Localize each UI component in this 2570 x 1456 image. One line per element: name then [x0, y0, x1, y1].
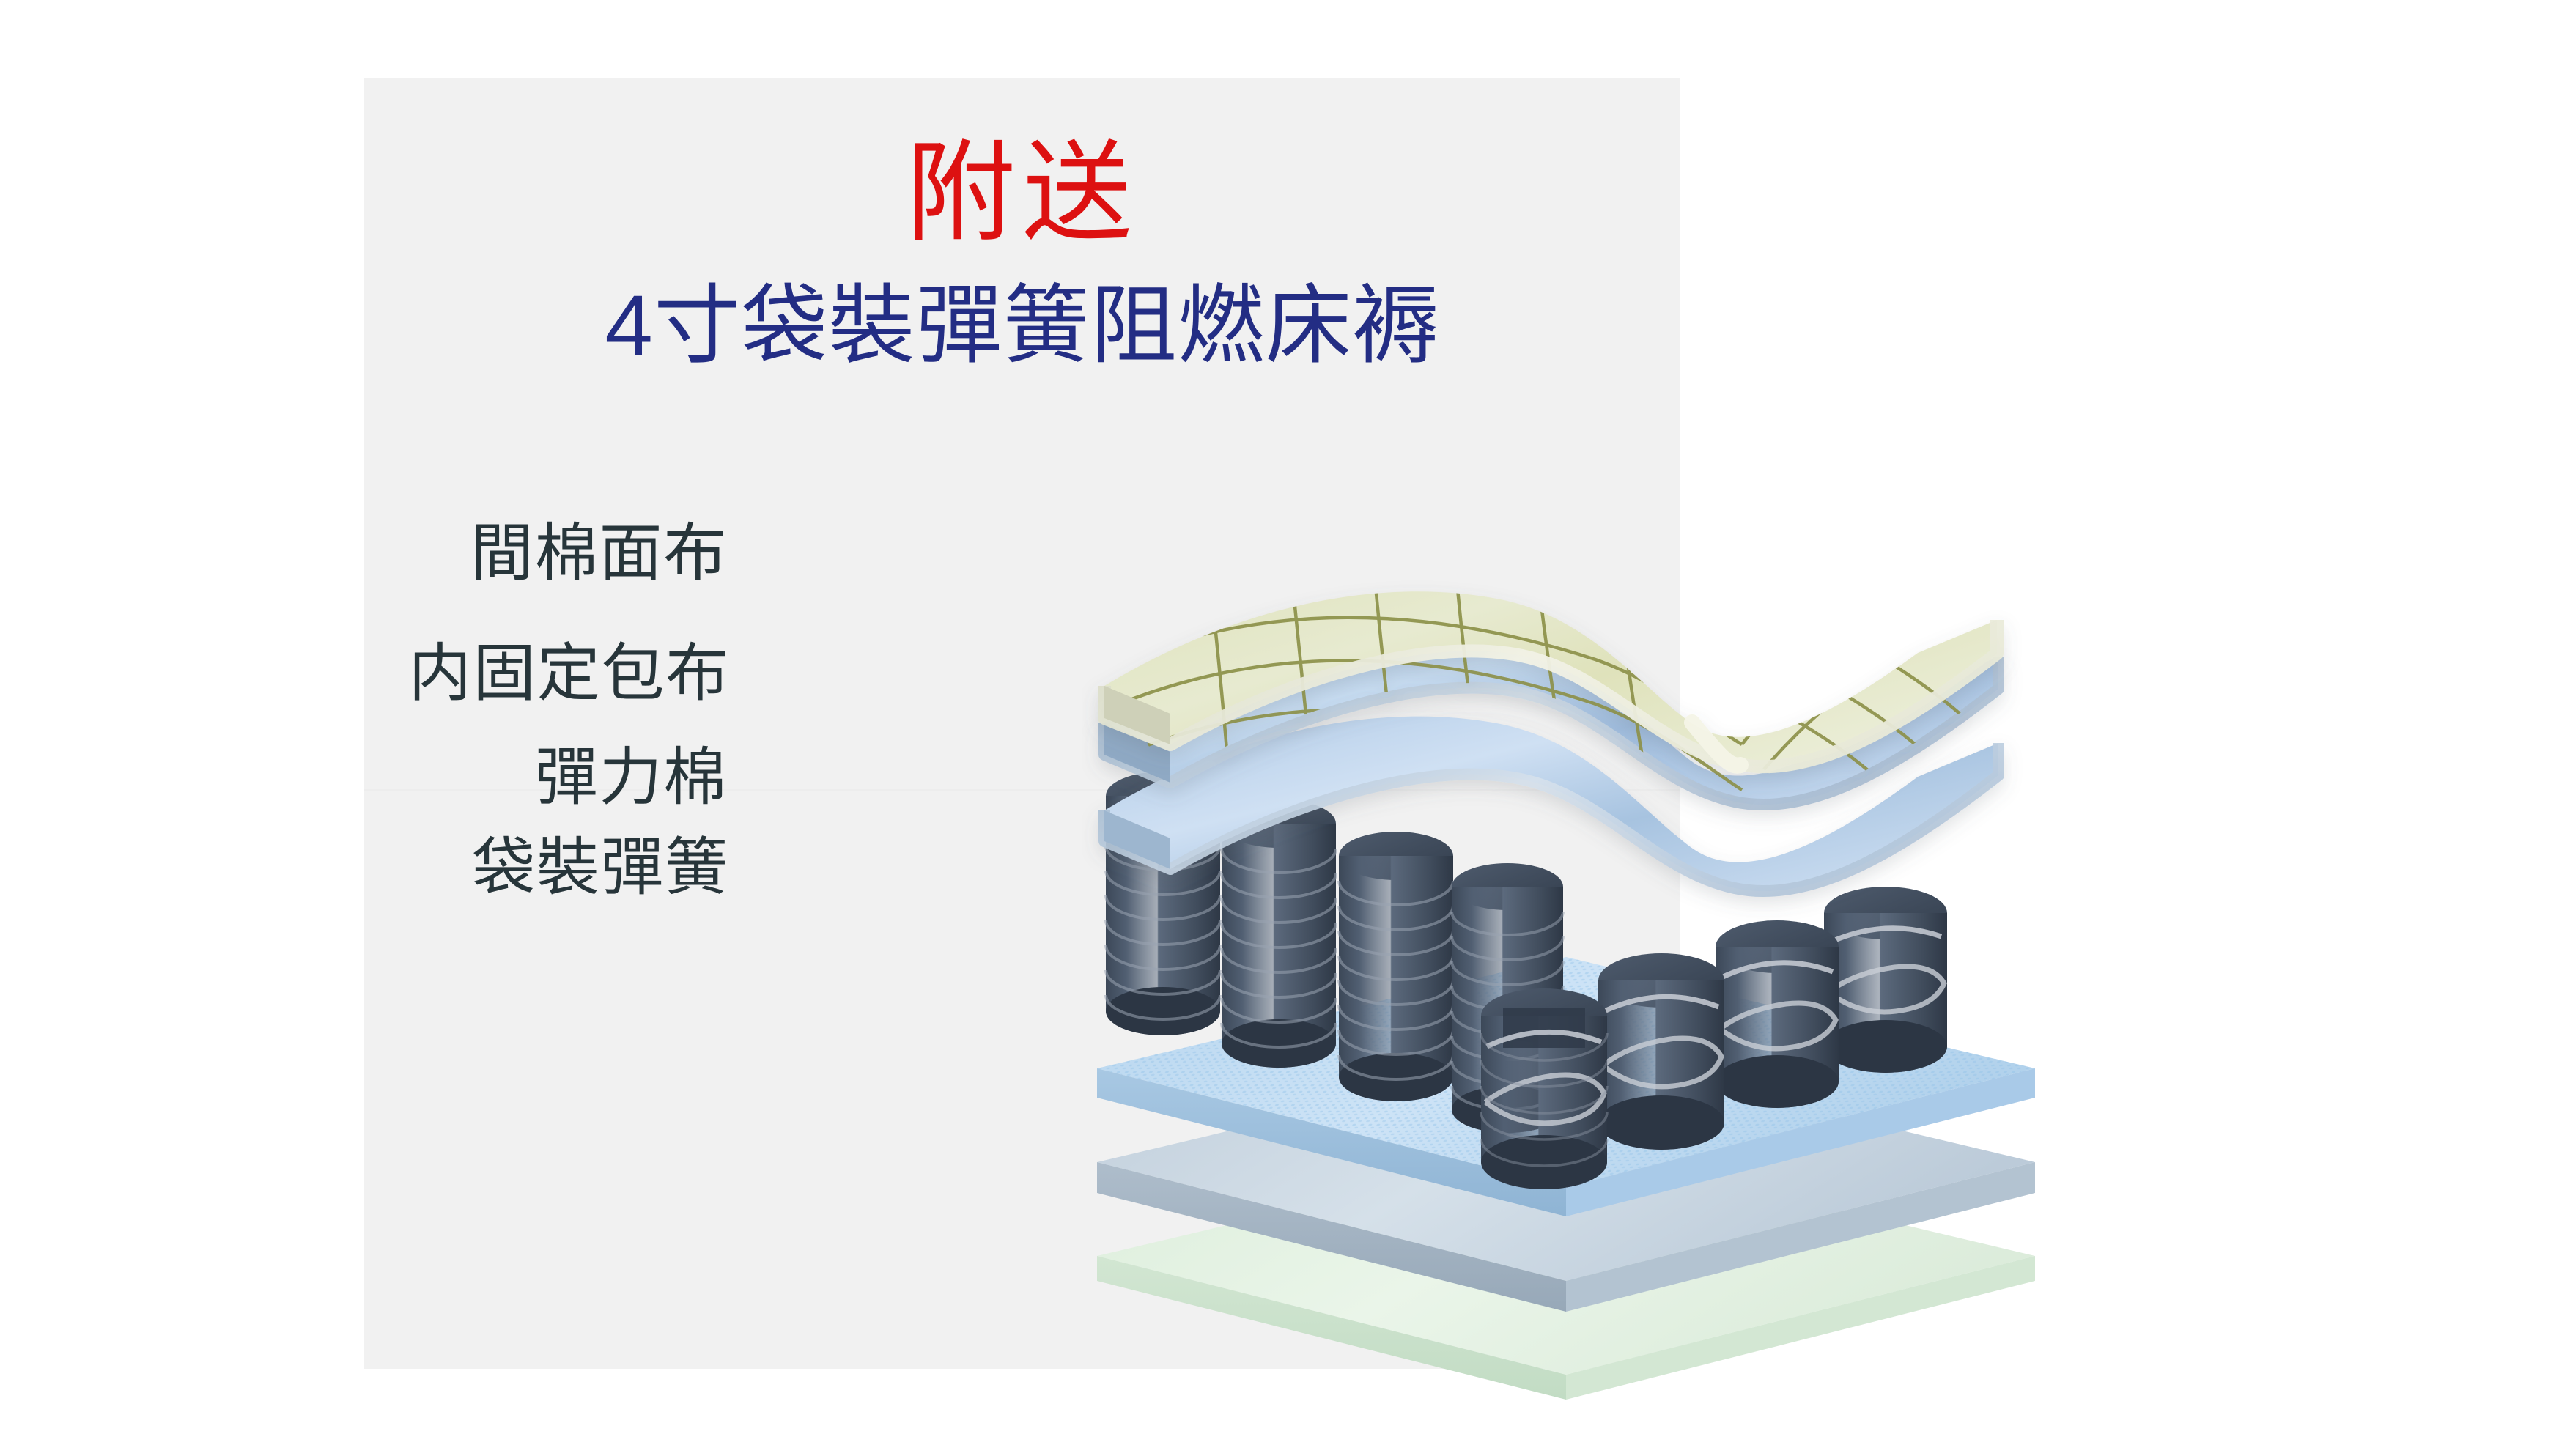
spring-coil [1716, 920, 1839, 1108]
mattress-layers-svg [1082, 503, 2050, 1441]
spring-coil [1481, 988, 1607, 1189]
layer-label-quilted-top: 間棉面布 [364, 522, 728, 585]
product-heading: 4寸袋裝彈簧阻燃床褥 [364, 283, 1680, 369]
spring-coil [1598, 953, 1724, 1150]
spring-coil [1824, 887, 1947, 1073]
layer-label-inner-cloth: 内固定包布 [364, 642, 730, 705]
spring-coil [1339, 832, 1453, 1101]
mattress-exploded-diagram [1082, 503, 2050, 1441]
layer-label-elastic-foam: 彈力棉 [364, 746, 728, 809]
layer-label-pocket-springs: 袋裝彈簧 [364, 836, 729, 899]
product-image-panel: 附送 4寸袋裝彈簧阻燃床褥 間棉面布 内固定包布 彈力棉 袋裝彈簧 [364, 78, 1680, 1369]
promo-heading: 附送 [364, 138, 1680, 248]
page-canvas: 附送 4寸袋裝彈簧阻燃床褥 間棉面布 内固定包布 彈力棉 袋裝彈簧 [0, 0, 2570, 1456]
